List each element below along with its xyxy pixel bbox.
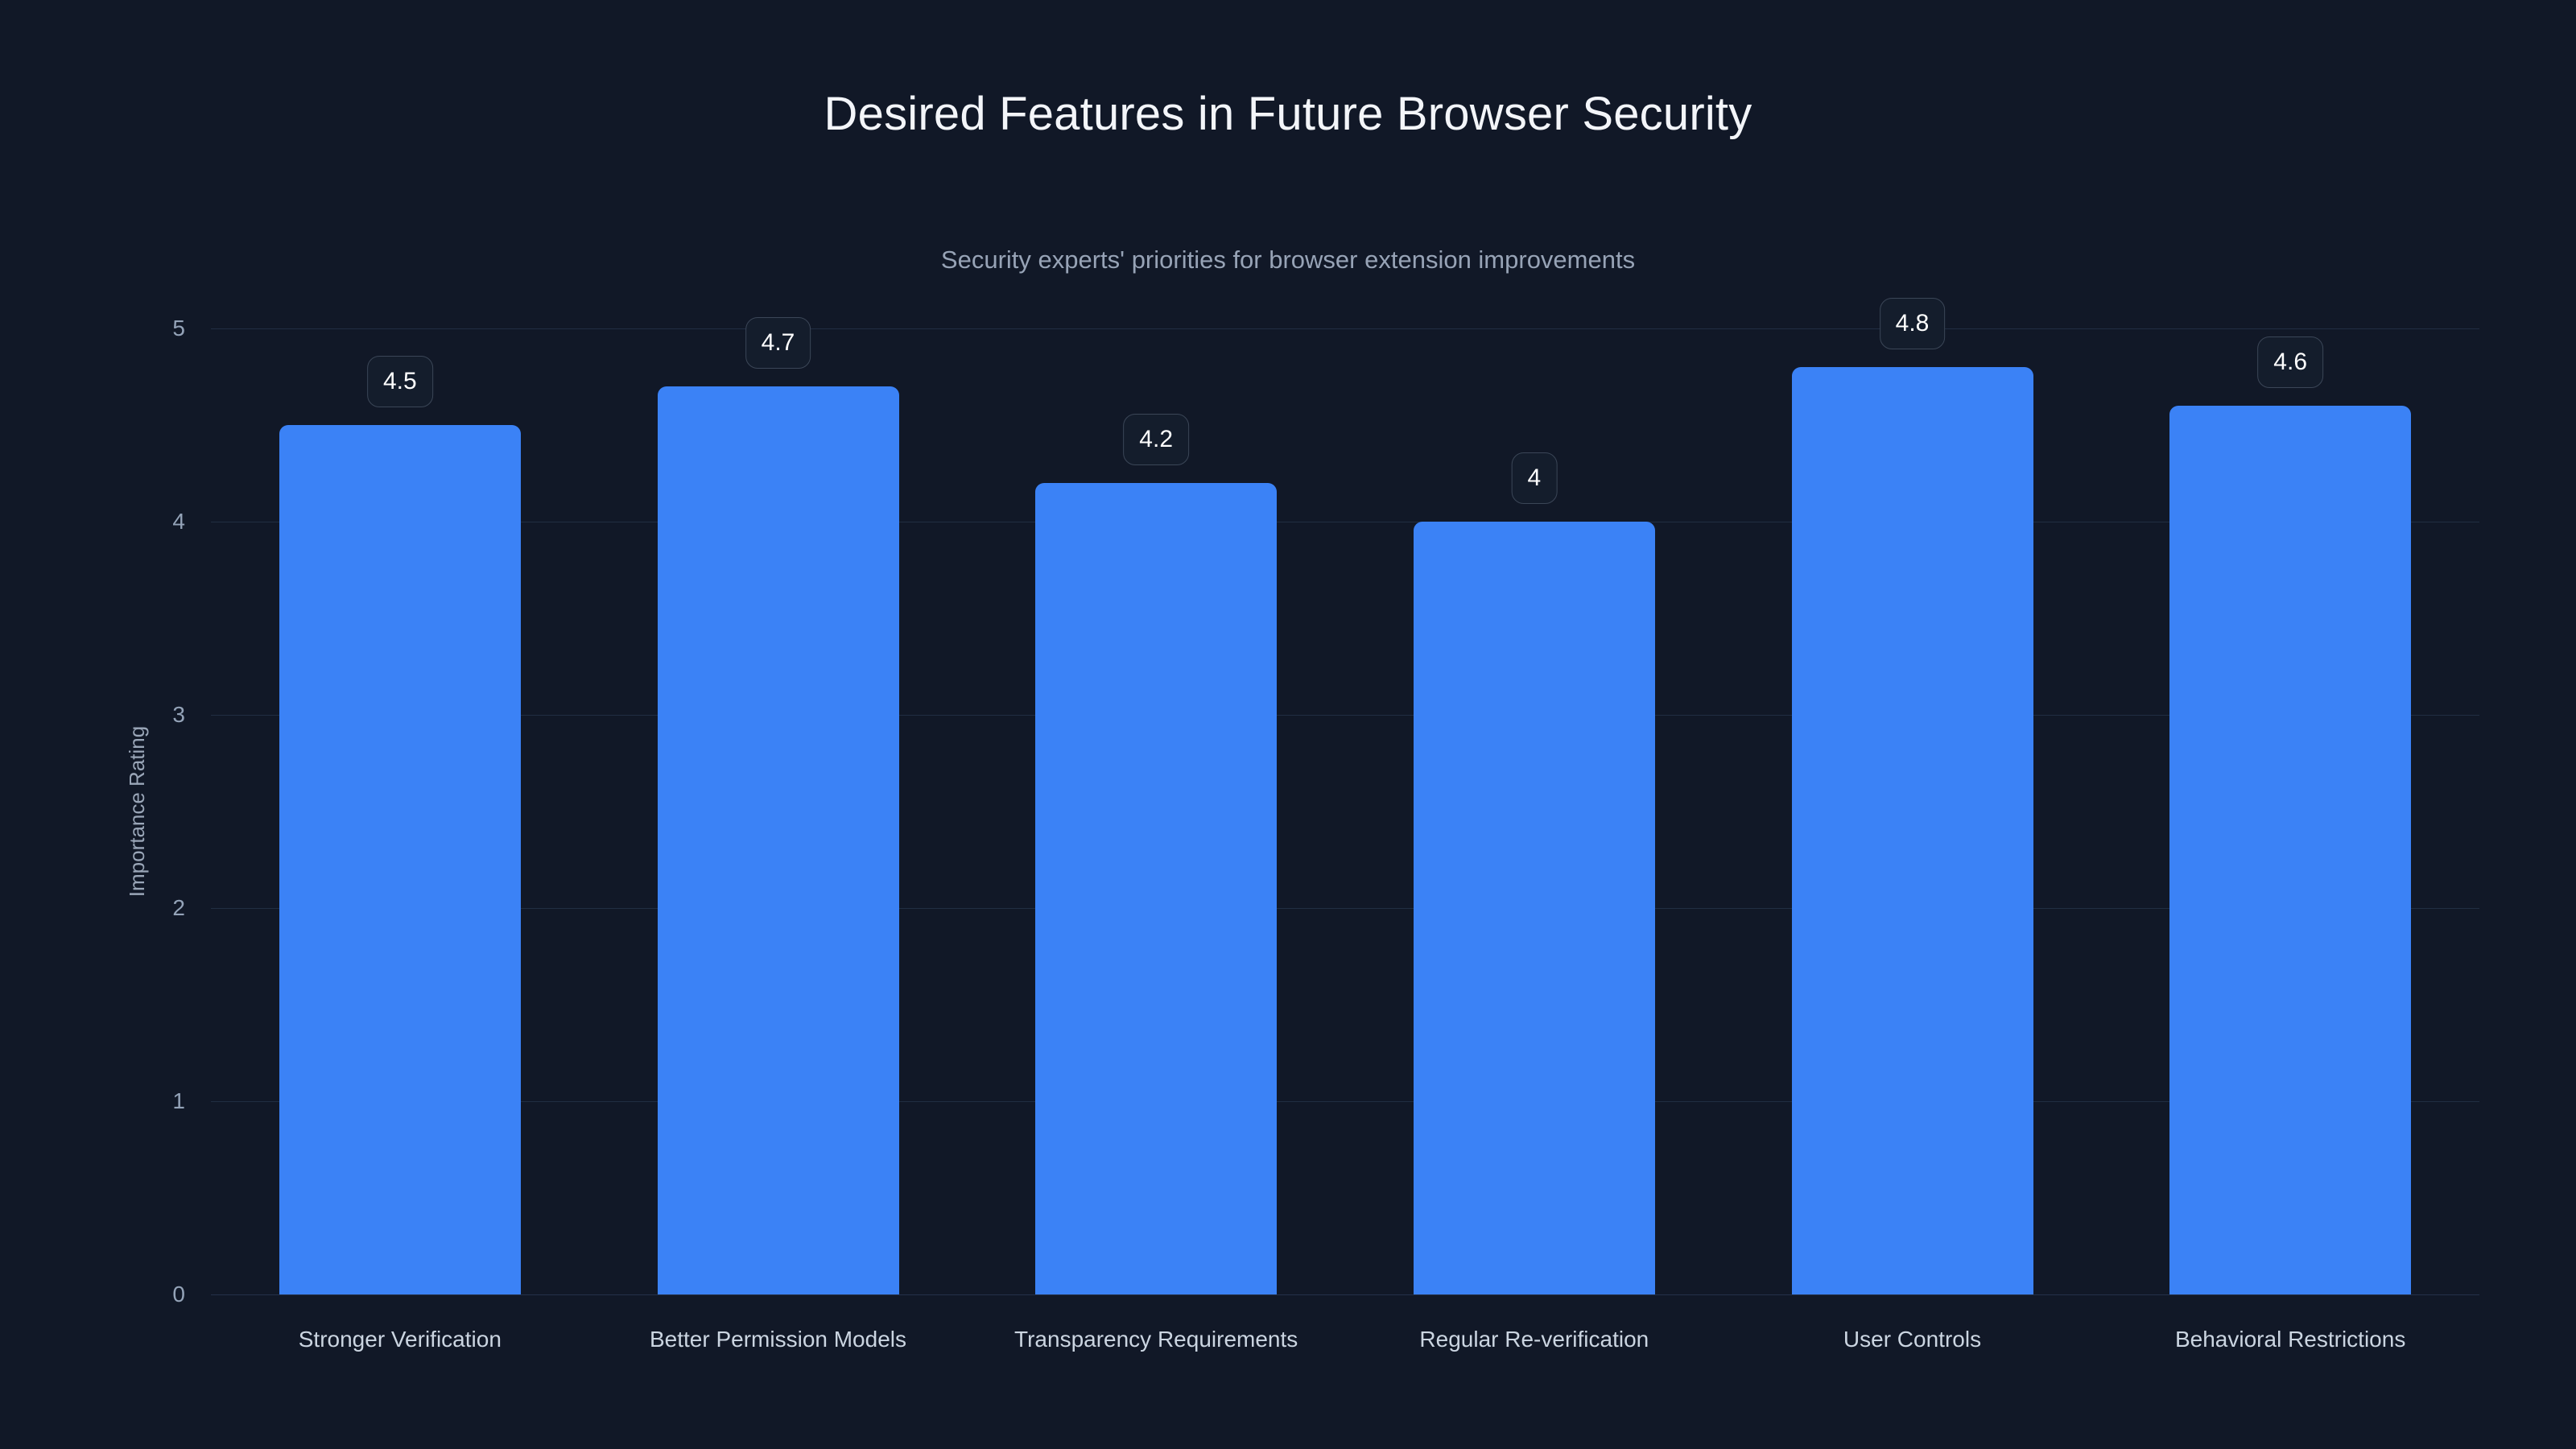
- y-tick-label: 2: [89, 895, 185, 921]
- bar-value-label: 4.8: [1880, 298, 1946, 349]
- gridline: [211, 328, 2479, 329]
- x-tick-label: Better Permission Models: [650, 1327, 906, 1352]
- x-tick-label: Regular Re-verification: [1419, 1327, 1649, 1352]
- y-tick-label: 1: [89, 1088, 185, 1114]
- x-tick-label: User Controls: [1843, 1327, 1981, 1352]
- gridline: [211, 522, 2479, 522]
- bar-value-label: 4.7: [745, 317, 811, 369]
- bar-value-label: 4: [1511, 452, 1557, 504]
- x-tick-label: Stronger Verification: [299, 1327, 502, 1352]
- bar[interactable]: [279, 425, 521, 1294]
- gridline: [211, 1101, 2479, 1102]
- bar[interactable]: [1414, 522, 1655, 1294]
- y-axis-tick-labels: 012345: [80, 328, 185, 1294]
- plot-area: [211, 328, 2479, 1294]
- bar[interactable]: [1792, 367, 2033, 1294]
- chart-subtitle: Security experts' priorities for browser…: [0, 246, 2576, 275]
- y-tick-label: 0: [89, 1282, 185, 1307]
- gridline: [211, 1294, 2479, 1295]
- bar-value-label: 4.5: [367, 356, 433, 407]
- y-tick-label: 4: [89, 509, 185, 535]
- x-tick-label: Transparency Requirements: [1014, 1327, 1298, 1352]
- gridline: [211, 908, 2479, 909]
- bar[interactable]: [658, 386, 899, 1294]
- chart-title: Desired Features in Future Browser Secur…: [0, 87, 2576, 141]
- gridline: [211, 715, 2479, 716]
- bar-value-label: 4.2: [1123, 414, 1189, 465]
- y-tick-label: 3: [89, 702, 185, 728]
- bar[interactable]: [1035, 483, 1277, 1294]
- bar[interactable]: [2169, 406, 2411, 1294]
- bar-value-label: 4.6: [2257, 336, 2323, 388]
- y-tick-label: 5: [89, 316, 185, 341]
- x-tick-label: Behavioral Restrictions: [2175, 1327, 2405, 1352]
- bar-chart-figure: Desired Features in Future Browser Secur…: [0, 0, 2576, 1449]
